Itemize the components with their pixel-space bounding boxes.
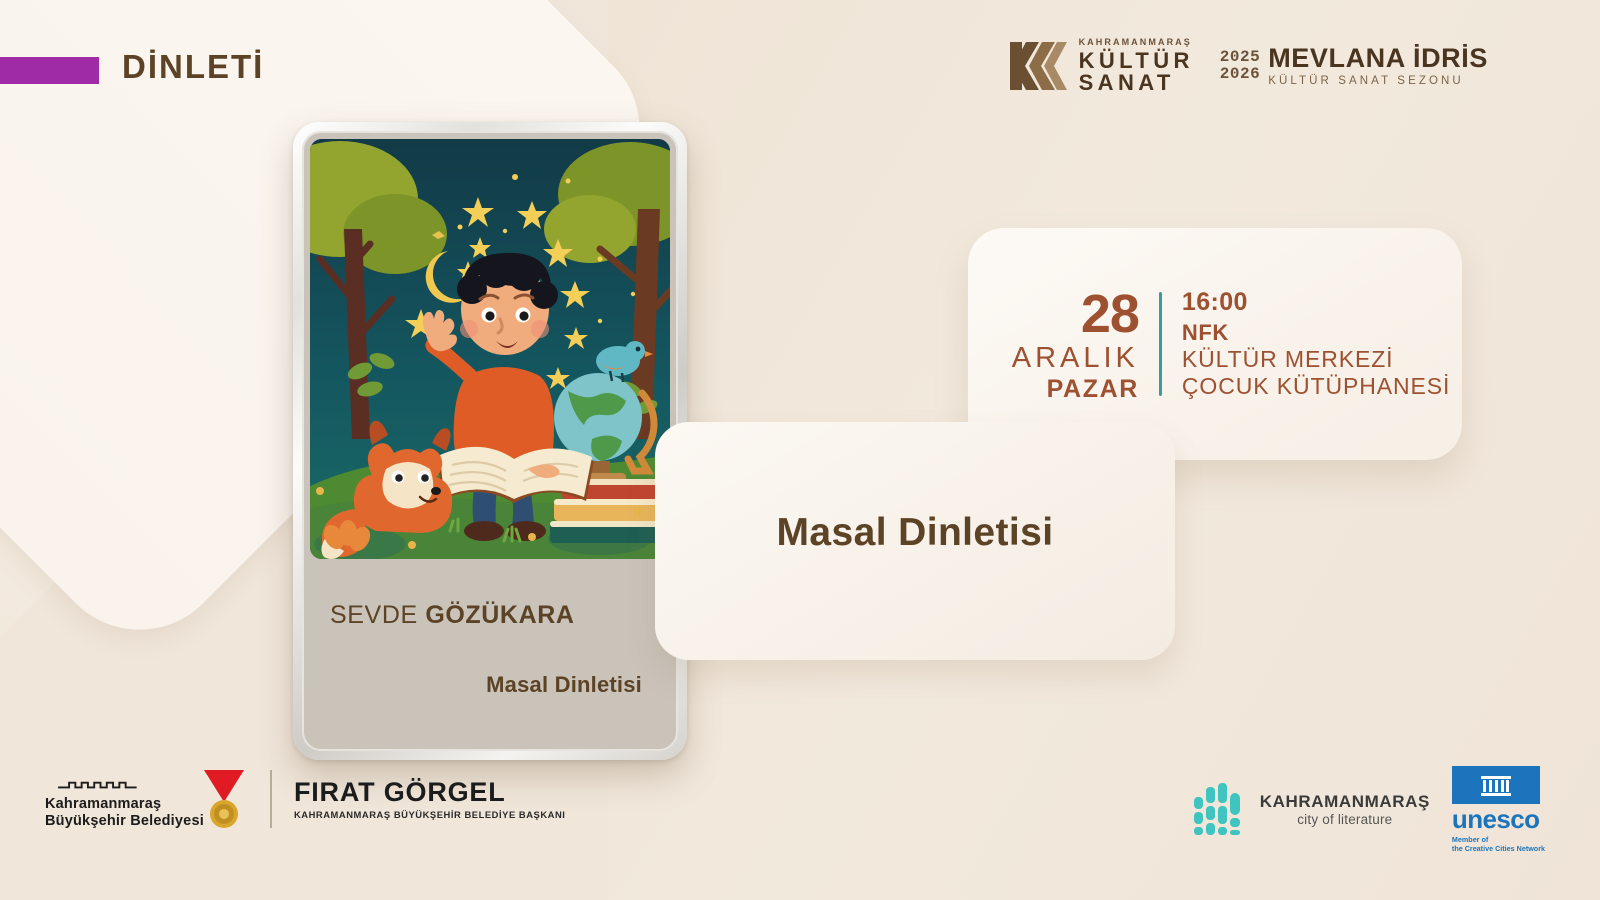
brand-city: KAHRAMANMARAŞ	[1079, 38, 1194, 47]
municipality-line-2: Büyükşehir Belediyesi	[45, 813, 204, 830]
literature-blocks-icon	[1192, 781, 1248, 839]
venue-short-name: NFK	[1182, 320, 1450, 346]
season-wordmark: MEVLANA İDRİS KÜLTÜR SANAT SEZONU	[1268, 45, 1488, 88]
unesco-wordmark: unesco	[1452, 806, 1539, 832]
city-of-literature-logo: KAHRAMANMARAŞ city of literature	[1192, 781, 1430, 839]
boy-reading-with-fox-illustration	[310, 139, 670, 559]
venue-line-1: KÜLTÜR MERKEZİ	[1182, 346, 1450, 373]
unesco-temple-icon	[1452, 766, 1540, 804]
event-title-card: Masal Dinletisi	[655, 422, 1175, 660]
season-year-to: 2026	[1220, 66, 1260, 83]
kultur-sanat-wordmark: KAHRAMANMARAŞ KÜLTÜR SANAT	[1079, 38, 1194, 94]
footer-left-logos: Kahramanmaraş Büyükşehir Belediyesi FIRA…	[45, 768, 565, 830]
season-logo: 2025 2026 MEVLANA İDRİS KÜLTÜR SANAT SEZ…	[1220, 45, 1488, 88]
mayor-block: FIRAT GÖRGEL KAHRAMANMARAŞ BÜYÜKŞEHİR BE…	[294, 777, 566, 821]
poster-body: SEVDE GÖZÜKARA Masal Dinletisi	[302, 131, 678, 751]
unesco-member-note: Member of the Creative Cities Network	[1452, 835, 1545, 853]
poster-frame: SEVDE GÖZÜKARA Masal Dinletisi	[293, 122, 687, 760]
season-years: 2025 2026	[1220, 49, 1260, 83]
season-subtitle: KÜLTÜR SANAT SEZONU	[1268, 76, 1488, 88]
mayor-name: FIRAT GÖRGEL	[294, 777, 566, 807]
accent-bar	[0, 57, 99, 84]
footer-divider	[270, 770, 272, 828]
poster-subtitle: Masal Dinletisi	[330, 672, 650, 698]
date-card-content: 28 ARALIK PAZAR 16:00 NFK KÜLTÜR MERKEZİ…	[1012, 287, 1451, 402]
medal-flag-icon	[200, 768, 248, 830]
date-day-number: 28	[1012, 287, 1139, 341]
event-time: 16:00	[1182, 288, 1450, 318]
kks-monogram-icon	[1008, 38, 1068, 94]
date-venue-divider	[1159, 292, 1162, 396]
poster-artist: SEVDE GÖZÜKARA	[330, 601, 650, 630]
season-year-from: 2025	[1220, 49, 1260, 66]
city-of-literature-tagline: city of literature	[1260, 812, 1430, 828]
unesco-logo: unesco Member of the Creative Cities Net…	[1452, 766, 1545, 853]
city-wall-icon	[45, 778, 167, 789]
artist-last-name: GÖZÜKARA	[425, 601, 574, 629]
poster-artwork	[310, 139, 670, 559]
page-kicker: DİNLETİ	[122, 48, 264, 86]
unesco-member-line-2: the Creative Cities Network	[1452, 844, 1545, 853]
season-title: MEVLANA İDRİS	[1268, 45, 1488, 72]
mayor-role: KAHRAMANMARAŞ BÜYÜKŞEHİR BELEDİYE BAŞKAN…	[294, 810, 566, 821]
kultur-sanat-logo: KAHRAMANMARAŞ KÜLTÜR SANAT	[1008, 38, 1194, 94]
artist-first-name: SEVDE	[330, 601, 418, 629]
municipality-logo: Kahramanmaraş Büyükşehir Belediyesi	[45, 768, 248, 830]
event-title: Masal Dinletisi	[777, 511, 1054, 555]
brand-kultur: KÜLTÜR	[1079, 50, 1194, 72]
date-weekday: PAZAR	[1012, 377, 1139, 402]
date-block: 28 ARALIK PAZAR	[1012, 287, 1139, 402]
footer-right-logos: KAHRAMANMARAŞ city of literature unesco …	[1192, 766, 1545, 853]
venue-block: 16:00 NFK KÜLTÜR MERKEZİ ÇOCUK KÜTÜPHANE…	[1182, 288, 1450, 400]
poster-caption: SEVDE GÖZÜKARA Masal Dinletisi	[302, 573, 678, 698]
venue-line-2: ÇOCUK KÜTÜPHANESİ	[1182, 373, 1450, 400]
city-of-literature-wordmark: KAHRAMANMARAŞ city of literature	[1260, 792, 1430, 827]
date-month: ARALIK	[1012, 344, 1139, 373]
brand-sanat: SANAT	[1079, 72, 1194, 94]
municipality-wordmark: Kahramanmaraş Büyükşehir Belediyesi	[45, 796, 204, 830]
brand-logo-row: KAHRAMANMARAŞ KÜLTÜR SANAT 2025 2026 MEV…	[1008, 38, 1488, 94]
city-of-literature-city: KAHRAMANMARAŞ	[1260, 792, 1430, 812]
unesco-member-line-1: Member of	[1452, 835, 1545, 844]
municipality-line-1: Kahramanmaraş	[45, 796, 204, 813]
